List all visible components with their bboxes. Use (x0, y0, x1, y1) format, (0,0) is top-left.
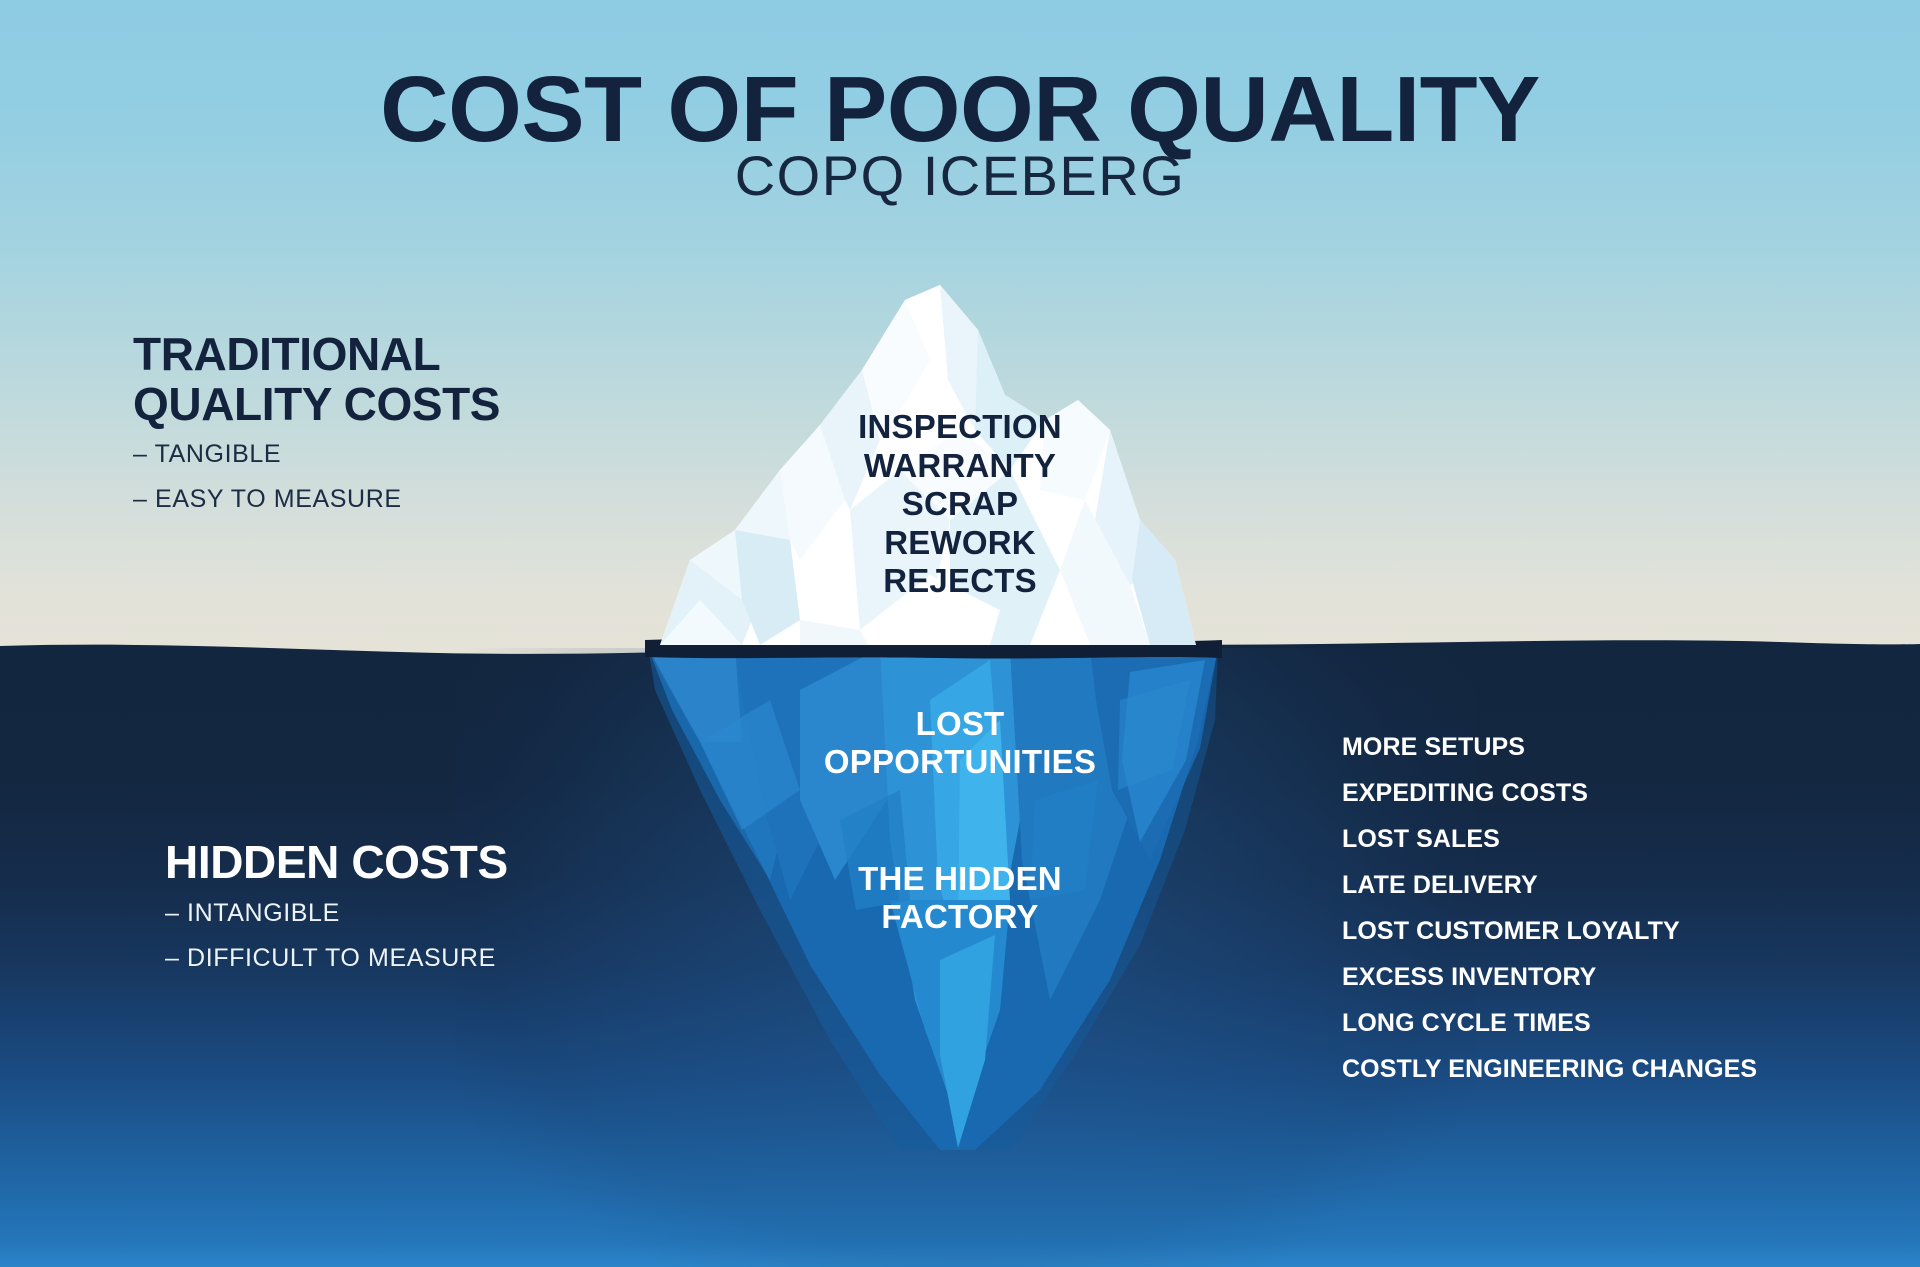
list-item: COSTLY ENGINEERING CHANGES (1342, 1057, 1757, 1082)
list-item: EXPEDITING COSTS (1342, 781, 1757, 806)
list-item: LONG CYCLE TIMES (1342, 1011, 1757, 1036)
page-title: COST OF POOR QUALITY (0, 63, 1920, 156)
hidden-cost-items-list: MORE SETUPS EXPEDITING COSTS LOST SALES … (1342, 735, 1757, 1103)
hidden-costs-bullet-1: – INTANGIBLE (165, 901, 508, 926)
list-item: LOST SALES (1342, 827, 1757, 852)
list-item: MORE SETUPS (1342, 735, 1757, 760)
page-subtitle: COPQ ICEBERG (0, 148, 1920, 204)
hidden-costs-heading: HIDDEN COSTS (165, 838, 508, 888)
above-water-label-list: INSPECTION WARRANTY SCRAP REWORK REJECTS (560, 408, 1360, 601)
traditional-bullets: – TANGIBLE – EASY TO MEASURE (133, 442, 500, 512)
traditional-bullet-2: – EASY TO MEASURE (133, 487, 500, 512)
list-item: EXCESS INVENTORY (1342, 965, 1757, 990)
list-item: LOST CUSTOMER LOYALTY (1342, 919, 1757, 944)
hidden-costs-bullets: – INTANGIBLE – DIFFICULT TO MEASURE (165, 901, 508, 971)
traditional-heading-line2: QUALITY COSTS (133, 380, 500, 430)
infographic-canvas: COST OF POOR QUALITY COPQ ICEBERG TRADIT… (0, 0, 1920, 1267)
hidden-factory-line2: FACTORY (560, 898, 1360, 936)
above-water-label-inspection: INSPECTION (560, 408, 1360, 447)
traditional-bullet-1: – TANGIBLE (133, 442, 500, 467)
above-water-label-rework: REWORK (560, 524, 1360, 563)
hidden-factory-line1: THE HIDDEN (560, 860, 1360, 898)
list-item: LATE DELIVERY (1342, 873, 1757, 898)
lost-opportunities-line2: OPPORTUNITIES (560, 743, 1360, 781)
lost-opportunities-line1: LOST (560, 705, 1360, 743)
hidden-factory-label: THE HIDDEN FACTORY (560, 860, 1360, 937)
hidden-costs-bullet-2: – DIFFICULT TO MEASURE (165, 946, 508, 971)
traditional-heading-line1: TRADITIONAL (133, 330, 500, 380)
traditional-quality-costs-block: TRADITIONAL QUALITY COSTS – TANGIBLE – E… (133, 330, 500, 532)
above-water-label-warranty: WARRANTY (560, 447, 1360, 486)
above-water-label-scrap: SCRAP (560, 485, 1360, 524)
above-water-label-rejects: REJECTS (560, 562, 1360, 601)
hidden-costs-block: HIDDEN COSTS – INTANGIBLE – DIFFICULT TO… (165, 838, 508, 991)
lost-opportunities-label: LOST OPPORTUNITIES (560, 705, 1360, 782)
